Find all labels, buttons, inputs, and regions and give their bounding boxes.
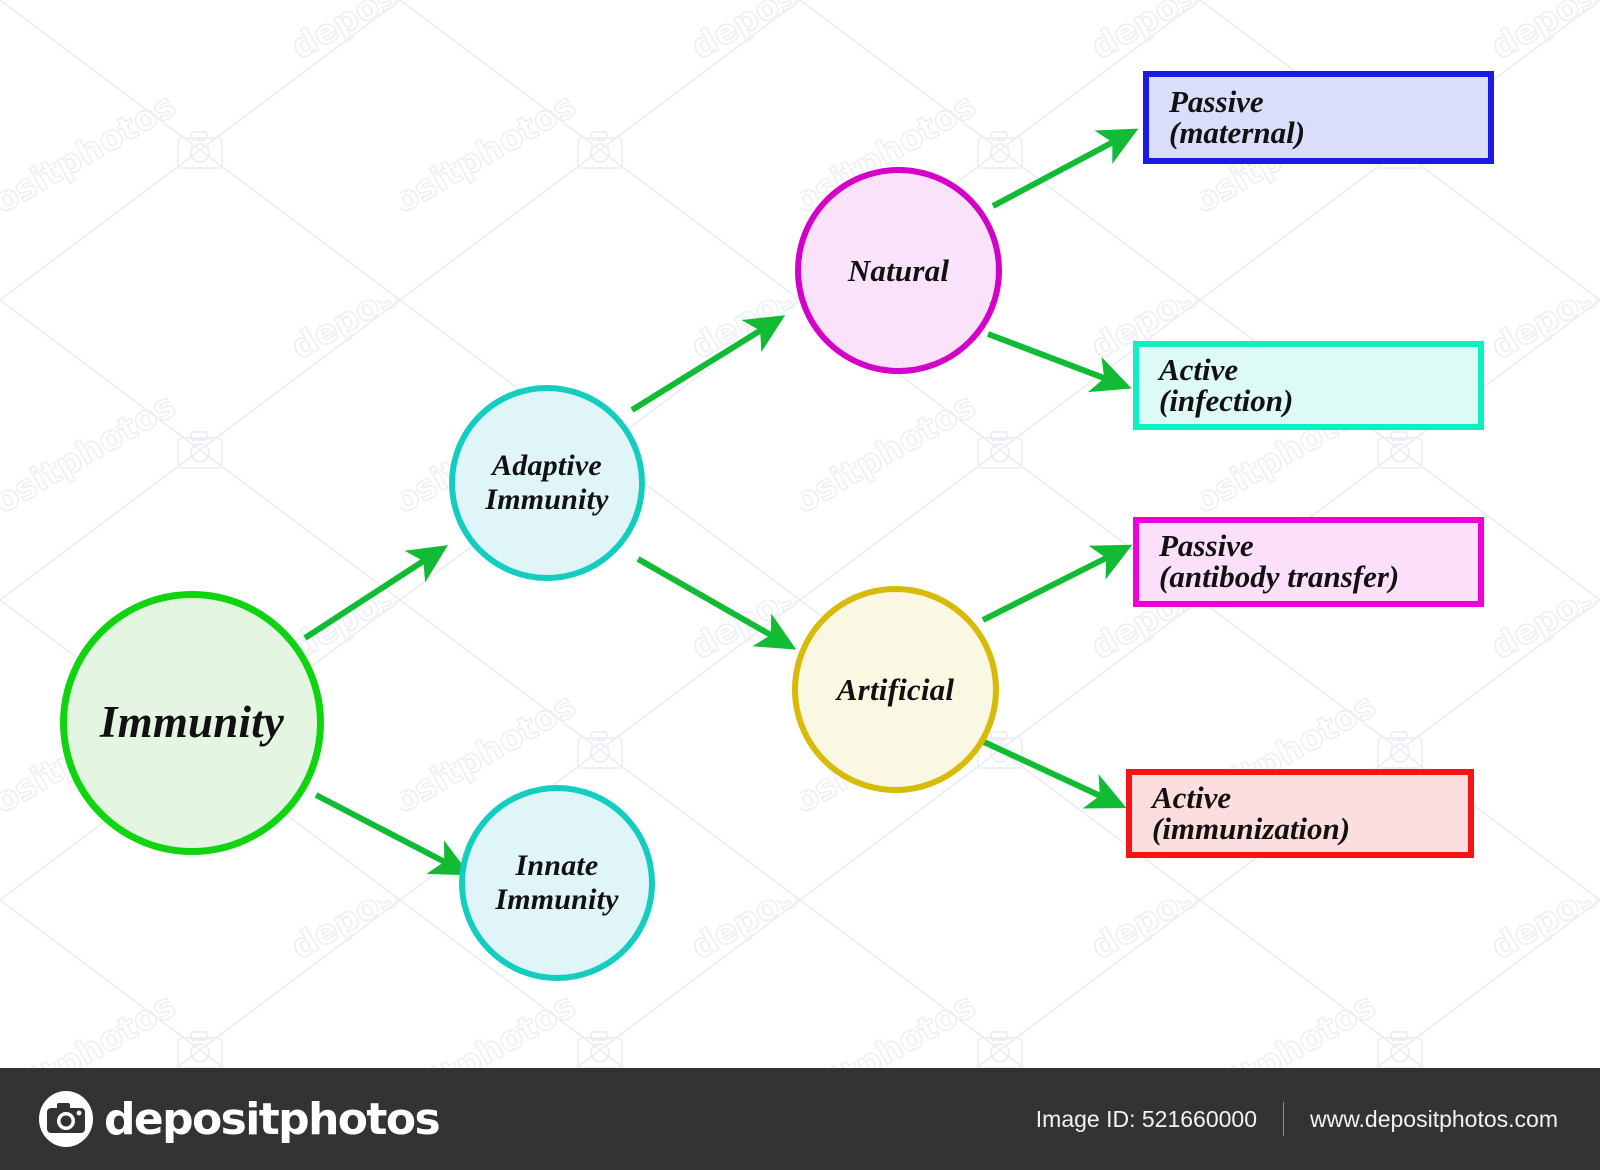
node-active-infection[interactable]: Active (infection)	[1133, 341, 1484, 430]
depositphotos-logo: depositphotos	[38, 1091, 439, 1147]
edge-artificial-to-passive-antibody	[983, 548, 1126, 620]
node-passive-maternal-label: Passive (maternal)	[1149, 87, 1305, 148]
footer-divider	[1283, 1102, 1284, 1136]
node-active-immunization-label: Active (immunization)	[1132, 783, 1350, 844]
edge-adaptive-to-artificial	[638, 559, 790, 646]
node-natural[interactable]: Natural	[795, 167, 1002, 374]
depositphotos-footer-bar: depositphotos Image ID: 521660000 www.de…	[0, 1068, 1600, 1170]
node-passive-antibody-transfer[interactable]: Passive (antibody transfer)	[1133, 517, 1484, 607]
node-immunity-label: Immunity	[100, 697, 284, 748]
edge-immunity-to-adaptive	[305, 549, 442, 638]
node-innate-immunity[interactable]: Innate Immunity	[459, 785, 655, 981]
website-link[interactable]: www.depositphotos.com	[1310, 1106, 1558, 1133]
node-active-infection-label: Active (infection)	[1139, 355, 1293, 416]
node-artificial-label: Artificial	[837, 672, 954, 707]
footer-meta: Image ID: 521660000 www.depositphotos.co…	[1036, 1102, 1558, 1136]
edge-natural-to-active-infection	[988, 334, 1125, 386]
image-id-label: Image ID: 521660000	[1036, 1106, 1257, 1133]
edge-adaptive-to-natural	[632, 319, 779, 410]
depositphotos-wordmark: depositphotos	[104, 1094, 439, 1145]
node-innate-immunity-label: Innate Immunity	[495, 849, 618, 917]
node-artificial[interactable]: Artificial	[792, 586, 999, 793]
edge-artificial-to-active-immunization	[984, 742, 1120, 805]
camera-icon	[38, 1091, 94, 1147]
node-active-immunization[interactable]: Active (immunization)	[1126, 769, 1474, 858]
edge-natural-to-passive-maternal	[993, 132, 1132, 206]
node-adaptive-immunity-label: Adaptive Immunity	[485, 449, 608, 517]
node-passive-antibody-transfer-label: Passive (antibody transfer)	[1139, 531, 1399, 592]
node-immunity[interactable]: Immunity	[60, 591, 324, 855]
edge-immunity-to-innate	[316, 795, 464, 872]
node-adaptive-immunity[interactable]: Adaptive Immunity	[449, 385, 645, 581]
node-passive-maternal[interactable]: Passive (maternal)	[1143, 71, 1494, 164]
diagram-canvas: depositphotos depositphotos Immunity Ada	[0, 0, 1600, 1170]
node-natural-label: Natural	[848, 253, 949, 288]
